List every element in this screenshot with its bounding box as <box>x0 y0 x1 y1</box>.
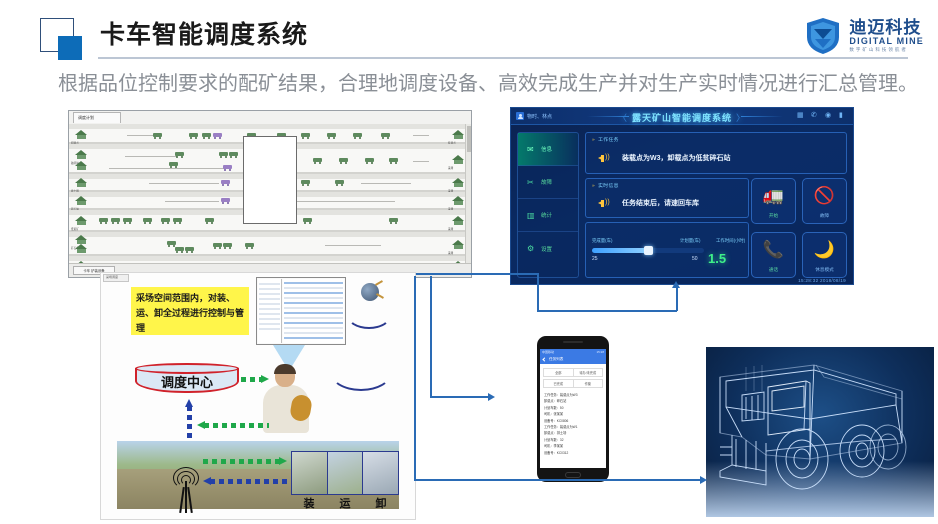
signal-icon[interactable]: ▦ <box>797 112 805 120</box>
flow-arrow-green-right <box>203 459 287 464</box>
gear-icon: ⚙ <box>527 244 536 253</box>
haul-truck-wireframe-panel <box>706 347 934 517</box>
truck-marker[interactable] <box>221 179 230 186</box>
settings-icon[interactable]: ◉ <box>825 112 833 120</box>
list-item[interactable]: 设备号：KC0312 <box>544 450 602 456</box>
schedule-canvas: 卸载点 装载点 破碎站 采场 <box>69 124 471 263</box>
operation-label-load: 装 <box>291 495 327 509</box>
phone-segment-row-2[interactable]: 已完成 作废 <box>543 379 603 388</box>
dump-photo <box>363 452 398 494</box>
phone-home-button[interactable] <box>565 472 581 478</box>
battery-icon[interactable]: ▮ <box>839 112 847 120</box>
mining-flow-diagram: 采场调度 采场空间范围内，对装、运、卸全过程进行控制与管理 <box>100 272 416 520</box>
progress-slider[interactable] <box>592 248 704 253</box>
sidebar-item-settings[interactable]: ⚙ 设置 <box>518 232 578 265</box>
dashboard-sidebar[interactable]: ✉ 信息 ✂ 故障 ▥ 统计 ⚙ 设置 <box>517 132 579 278</box>
dashboard-user[interactable]: 物时、林点 <box>516 112 552 120</box>
sidebar-item-label: 信息 <box>541 145 552 153</box>
mobile-app-panel: 中国移动 15:28 任务列表 全部 待办/未完成 已完成 作废 工作任务：装载… <box>497 330 655 490</box>
phone-nav-title: 任务列表 <box>549 357 563 362</box>
truck-marker[interactable] <box>301 179 310 186</box>
page-subtitle: 根据品位控制要求的配矿结果，合理地调度设备、高效完成生产并对生产实时情况进行汇总… <box>58 70 934 98</box>
mini-software-window <box>256 277 346 345</box>
progress-card: 完成量(车) 计划量(车) 工作时间(小时) 25 50 1.5 <box>585 222 749 278</box>
route-line <box>413 161 429 162</box>
logo-text-sub: 数字矿山科技领航者 <box>849 48 924 53</box>
phone-clock: 15:28 <box>596 350 604 354</box>
truck-marker[interactable] <box>213 132 222 139</box>
dashboard-user-label: 物时、林点 <box>527 113 552 120</box>
rest-mode-button[interactable]: 🌙 休息模式 <box>802 232 847 278</box>
dispatch-center-cylinder: 调度中心 <box>135 363 239 396</box>
connector-arrowhead-right <box>700 476 707 484</box>
chart-icon: ▥ <box>527 211 536 220</box>
truck-marker[interactable] <box>175 246 184 253</box>
truck-marker[interactable] <box>189 132 198 139</box>
scrollbar-thumb[interactable] <box>467 126 471 152</box>
segment-option[interactable]: 作废 <box>574 380 603 387</box>
dashboard-action-buttons: 🚛 开始 🚫 故障 📞 通话 🌙 休息模式 <box>751 178 847 278</box>
call-button[interactable]: 📞 通话 <box>751 232 796 278</box>
user-icon <box>516 112 524 120</box>
signal-arc <box>346 299 392 329</box>
operation-label-dump: 卸 <box>363 495 399 509</box>
plan-value: 50 <box>692 256 698 262</box>
plan-label: 计划量(车) <box>680 238 701 244</box>
site-label: 低贫矿 <box>71 227 79 231</box>
hours-label: 工作时间(小时) <box>716 238 745 244</box>
site-marker <box>75 244 88 255</box>
dispatch-schedule-window[interactable]: 调度计划 卸载点 装载点 <box>68 110 472 278</box>
fault-button-label: 故障 <box>803 213 846 219</box>
route-line <box>283 201 395 202</box>
flow-tab[interactable]: 采场调度 <box>103 274 129 282</box>
mail-icon: ✉ <box>527 145 536 154</box>
flow-arrow-up <box>187 399 192 439</box>
start-button[interactable]: 🚛 开始 <box>751 178 796 224</box>
truck-marker[interactable] <box>153 132 162 139</box>
haul-photo <box>328 452 364 494</box>
work-task-card: 工作任务 )) 装载点为W3，卸载点为低贫碎石站 <box>585 132 847 174</box>
connector-line <box>430 396 488 398</box>
segment-option[interactable]: 待办/未完成 <box>574 369 603 376</box>
site-marker: 采场 <box>452 155 465 166</box>
connector-arrowhead-up <box>672 281 680 288</box>
truck-marker[interactable] <box>229 151 238 158</box>
speaker-icon: )) <box>598 198 609 208</box>
lane-header <box>69 124 471 129</box>
progress-labels: 完成量(车) 计划量(车) 工作时间(小时) <box>592 238 742 246</box>
phone-speaker <box>563 341 583 343</box>
realtime-info-message: 任务结束后，请速回车库 <box>622 198 699 208</box>
mini-window-sidebar <box>258 279 282 343</box>
phone-icon[interactable]: ✆ <box>811 112 819 120</box>
callout-box: 采场空间范围内，对装、运、卸全过程进行控制与管理 <box>131 287 249 335</box>
truck-marker[interactable] <box>223 242 232 249</box>
progress-fill <box>592 248 648 253</box>
sidebar-item-stats[interactable]: ▥ 统计 <box>518 199 578 232</box>
site-marker: 采场 <box>452 196 465 207</box>
header-divider <box>98 57 908 59</box>
truck-marker[interactable] <box>205 217 214 224</box>
dispatch-dashboard[interactable]: 物时、林点 露天矿山智能调度系统 ▦ ✆ ◉ ▮ ✉ 信息 ✂ 故障 ▥ <box>510 107 854 285</box>
schedule-popup[interactable] <box>243 136 297 224</box>
route-line <box>109 168 225 169</box>
dashboard-title: 露天矿山智能调度系统 <box>618 111 746 124</box>
rest-mode-button-label: 休息模式 <box>803 267 846 273</box>
truck-marker[interactable] <box>389 157 398 164</box>
page-title: 卡车智能调度系统 <box>100 19 308 51</box>
mini-window-content <box>283 279 344 343</box>
truck-marker[interactable] <box>301 132 310 139</box>
connector-line <box>430 276 432 397</box>
fault-button[interactable]: 🚫 故障 <box>802 178 847 224</box>
route-line <box>165 201 219 202</box>
segment-option[interactable]: 已完成 <box>544 380 574 387</box>
truck-marker[interactable] <box>99 217 108 224</box>
lane-header <box>69 232 471 237</box>
route-line <box>325 245 381 246</box>
truck-marker[interactable] <box>123 217 132 224</box>
site-label: 采场 <box>448 166 453 170</box>
truck-marker[interactable] <box>143 217 152 224</box>
work-task-message: 装载点为W3，卸载点为低贫碎石站 <box>622 153 731 163</box>
operation-labels: 装 运 卸 <box>291 495 399 509</box>
route-line <box>413 135 429 136</box>
route-line <box>127 135 155 136</box>
realtime-info-tag: 实时信息 <box>592 182 619 189</box>
truck-marker[interactable] <box>175 151 184 158</box>
dashboard-titlebar: 物时、林点 露天矿山智能调度系统 ▦ ✆ ◉ ▮ <box>511 108 853 125</box>
radio-tower-icon <box>173 459 199 513</box>
speaker-icon: )) <box>598 153 609 163</box>
phone-segment-row-1[interactable]: 全部 待办/未完成 <box>543 368 603 377</box>
tools-icon: ✂ <box>527 178 536 187</box>
sidebar-item-label: 故障 <box>541 178 552 186</box>
site-marker: 碎石站 <box>75 196 88 207</box>
truck-marker[interactable] <box>213 242 222 249</box>
prohibited-icon: 🚫 <box>814 187 835 204</box>
site-marker: 破碎站 <box>75 150 88 161</box>
header-logo-mark <box>40 18 90 60</box>
titlebar-deco-right <box>741 116 783 117</box>
back-icon[interactable] <box>542 357 546 361</box>
slide-canvas: 卡车智能调度系统 迪迈科技 DIGITAL MINE 数字矿山科技领航者 根据品… <box>0 0 938 524</box>
moon-icon: 🌙 <box>814 241 835 258</box>
connector-line <box>414 479 702 481</box>
flow-arrow-green-left <box>197 423 269 428</box>
schedule-scrollbar[interactable] <box>465 124 471 263</box>
hours-value: 1.5 <box>708 251 726 266</box>
site-marker: 卸载点 <box>75 130 88 141</box>
site-label: 采场 <box>448 227 453 231</box>
flow-arrow-green <box>241 377 269 382</box>
done-value: 25 <box>592 256 598 262</box>
truck-marker[interactable] <box>161 217 170 224</box>
dispatch-center-label: 调度中心 <box>135 372 239 391</box>
schedule-lane[interactable]: 矿石仓 采场 <box>69 232 471 256</box>
signal-arc <box>329 351 393 391</box>
truck-marker[interactable] <box>202 132 211 139</box>
site-marker: 采场 <box>452 216 465 227</box>
operation-photos <box>291 451 399 495</box>
logo-text-cn: 迪迈科技 <box>849 19 924 36</box>
square-filled-shape <box>58 36 82 60</box>
connector-arrowhead-right <box>488 393 495 401</box>
truck-marker[interactable] <box>365 157 374 164</box>
dashboard-status-icons: ▦ ✆ ◉ ▮ <box>797 112 847 120</box>
phone-mockup[interactable]: 中国移动 15:28 任务列表 全部 待办/未完成 已完成 作废 工作任务：装载… <box>537 336 609 482</box>
sidebar-item-info[interactable]: ✉ 信息 <box>518 133 578 166</box>
truck-icon: 🚛 <box>763 187 784 204</box>
truck-marker[interactable] <box>223 164 232 171</box>
truck-marker[interactable] <box>327 132 336 139</box>
schedule-tab[interactable]: 调度计划 <box>73 112 121 123</box>
logo-text-en: DIGITAL MINE <box>849 37 924 46</box>
truck-marker[interactable] <box>389 217 398 224</box>
truck-marker[interactable] <box>339 157 348 164</box>
truck-marker[interactable] <box>303 217 312 224</box>
sidebar-item-fault[interactable]: ✂ 故障 <box>518 166 578 199</box>
route-line <box>125 156 177 157</box>
start-button-label: 开始 <box>752 213 795 219</box>
sidebar-item-label: 设置 <box>541 245 552 253</box>
site-marker: 排土场 <box>75 178 88 189</box>
realtime-info-card: 实时信息 )) 任务结束后，请速回车库 <box>585 178 749 218</box>
dashboard-timestamp: 15:28:32 2018/08/19 <box>798 278 846 283</box>
site-marker: 采场 <box>452 240 465 251</box>
phone-navbar: 任务列表 <box>540 355 606 364</box>
call-button-label: 通话 <box>752 267 795 273</box>
truck-marker[interactable] <box>381 132 390 139</box>
site-marker <box>75 161 88 172</box>
truck-marker[interactable] <box>245 242 254 249</box>
phone-screen[interactable]: 中国移动 15:28 任务列表 全部 待办/未完成 已完成 作废 工作任务：装载… <box>540 349 606 468</box>
route-line <box>361 183 411 184</box>
load-photo <box>292 452 328 494</box>
site-marker: 低贫矿 <box>75 216 88 227</box>
truck-marker[interactable] <box>335 179 344 186</box>
connector-line <box>676 288 678 311</box>
panel-glow <box>706 461 934 517</box>
truck-marker[interactable] <box>313 157 322 164</box>
flow-arrow-blue-left <box>203 479 287 484</box>
truck-marker[interactable] <box>185 246 194 253</box>
truck-marker[interactable] <box>169 161 178 168</box>
phone-task-list[interactable]: 工作任务：装载点为W3 卸载点：碎石站 计划车数：50 司机：张某某 设备号：K… <box>544 392 602 456</box>
site-marker: 采场 <box>452 178 465 189</box>
connector-line <box>414 276 416 480</box>
operation-label-haul: 运 <box>327 495 363 509</box>
truck-marker[interactable] <box>219 151 228 158</box>
lane-header <box>69 256 471 261</box>
sidebar-item-label: 统计 <box>541 211 552 219</box>
connector-line <box>537 310 677 312</box>
done-label: 完成量(车) <box>592 238 613 244</box>
work-task-tag: 工作任务 <box>592 136 619 143</box>
truck-marker[interactable] <box>173 217 182 224</box>
progress-knob[interactable] <box>644 246 653 255</box>
truck-marker[interactable] <box>353 132 362 139</box>
brand-logo: 迪迈科技 DIGITAL MINE 数字矿山科技领航者 <box>803 14 924 58</box>
phone-icon: 📞 <box>763 241 784 258</box>
connector-line <box>416 273 538 275</box>
site-marker: 装载点 <box>452 130 465 141</box>
segment-option[interactable]: 全部 <box>544 369 574 376</box>
shield-icon <box>803 17 843 55</box>
phone-carrier: 中国移动 <box>542 350 554 354</box>
connector-line <box>537 273 539 311</box>
site-label: 采场 <box>448 251 453 255</box>
route-line <box>149 183 219 184</box>
truck-marker[interactable] <box>221 197 230 204</box>
truck-marker[interactable] <box>111 217 120 224</box>
